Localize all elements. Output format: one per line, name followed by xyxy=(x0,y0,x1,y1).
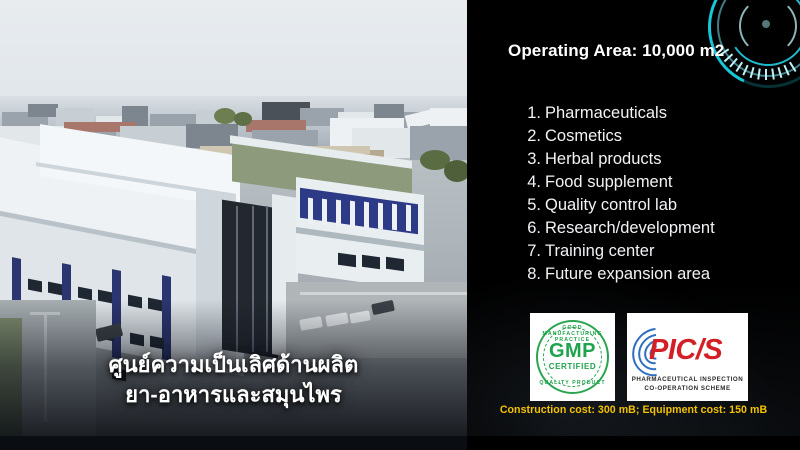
list-item-label: Herbal products xyxy=(545,150,661,169)
gmp-seal-icon: GOOD MANUFACTURING PRACTICE GMP CERTIFIE… xyxy=(534,318,611,396)
pics-main-text: PIC/S xyxy=(649,335,748,365)
list-item-number: 8. xyxy=(508,265,545,284)
gmp-sub-text: CERTIFIED xyxy=(534,362,611,371)
pics-logo: PIC/S PHARMACEUTICAL INSPECTION CO-OPERA… xyxy=(627,313,748,401)
photo-bottom-edge xyxy=(0,436,467,450)
list-item-label: Research/development xyxy=(545,219,715,238)
list-item: 1. Pharmaceuticals xyxy=(508,104,800,127)
list-item-label: Future expansion area xyxy=(545,265,710,284)
hud-tick xyxy=(789,62,797,72)
hud-tick xyxy=(729,58,738,68)
list-item: 8. Future expansion area xyxy=(508,265,800,288)
list-item-label: Food supplement xyxy=(545,173,673,192)
hud-tick xyxy=(735,62,743,72)
list-item: 2. Cosmetics xyxy=(508,127,800,150)
tree xyxy=(234,112,252,126)
window-divider xyxy=(378,203,383,230)
tree xyxy=(444,160,467,182)
window-divider xyxy=(336,200,341,227)
list-item-number: 5. xyxy=(508,196,545,215)
window-divider xyxy=(364,202,369,229)
window-divider xyxy=(406,205,411,232)
window xyxy=(386,257,404,272)
pavement-line xyxy=(300,292,467,295)
panel-bottom-edge xyxy=(467,436,800,450)
cost-note: Construction cost: 300 mB; Equipment cos… xyxy=(467,404,800,416)
window-divider xyxy=(392,204,397,231)
list-item-label: Quality control lab xyxy=(545,196,677,215)
tree xyxy=(214,108,236,124)
content-panel: Operating Area: 10,000 m2 1. Pharmaceuti… xyxy=(467,0,800,450)
thai-caption-line1: ศูนย์ความเป็นเลิศด้านผลิต xyxy=(109,352,359,377)
window-divider xyxy=(308,198,313,225)
list-item: 3. Herbal products xyxy=(508,150,800,173)
page-title: Operating Area: 10,000 m2 xyxy=(508,41,724,61)
distant-building xyxy=(28,104,58,117)
thai-caption-line2: ยา-อาหารและสมุนไพร xyxy=(0,380,467,410)
window xyxy=(338,253,356,268)
hud-tick xyxy=(765,69,767,80)
gmp-logo: GOOD MANUFACTURING PRACTICE GMP CERTIFIE… xyxy=(530,313,615,401)
pics-sub-line2: CO-OPERATION SCHEME xyxy=(644,385,730,392)
pics-sub-text: PHARMACEUTICAL INSPECTION CO-OPERATION S… xyxy=(627,376,748,393)
window-divider xyxy=(350,201,355,228)
hud-tick xyxy=(742,65,748,76)
aerial-photo: ศูนย์ความเป็นเลิศด้านผลิต ยา-อาหารและสมุ… xyxy=(0,0,467,450)
hud-tick xyxy=(724,53,734,62)
list-item-number: 1. xyxy=(508,104,545,123)
hud-tick xyxy=(750,67,755,78)
list-item-number: 4. xyxy=(508,173,545,192)
window-divider xyxy=(322,199,327,226)
capability-list: 1. Pharmaceuticals 2. Cosmetics 3. Herba… xyxy=(508,104,800,288)
list-item-number: 3. xyxy=(508,150,545,169)
list-item: 5. Quality control lab xyxy=(508,196,800,219)
hud-tick xyxy=(777,67,782,78)
hud-tick xyxy=(783,65,789,76)
list-item-label: Pharmaceuticals xyxy=(545,104,667,123)
pics-mark-icon: PIC/S PHARMACEUTICAL INSPECTION CO-OPERA… xyxy=(627,313,748,401)
slide-root: ศูนย์ความเป็นเลิศด้านผลิต ยา-อาหารและสมุ… xyxy=(0,0,800,450)
list-item: 4. Food supplement xyxy=(508,173,800,196)
list-item-number: 6. xyxy=(508,219,545,238)
list-item-label: Cosmetics xyxy=(545,127,622,146)
list-item-number: 2. xyxy=(508,127,545,146)
gmp-arc-bottom-text: QUALITY PRODUCT xyxy=(534,380,611,386)
list-item: 7. Training center xyxy=(508,242,800,265)
thai-caption: ศูนย์ความเป็นเลิศด้านผลิต ยา-อาหารและสมุ… xyxy=(0,350,467,410)
list-item: 6. Research/development xyxy=(508,219,800,242)
list-item-label: Training center xyxy=(545,242,654,261)
hud-tick xyxy=(771,68,775,79)
hud-tick xyxy=(757,68,761,79)
gmp-main-text: GMP xyxy=(534,341,611,361)
window xyxy=(362,255,380,270)
list-item-number: 7. xyxy=(508,242,545,261)
pics-sub-line1: PHARMACEUTICAL INSPECTION xyxy=(632,376,744,383)
